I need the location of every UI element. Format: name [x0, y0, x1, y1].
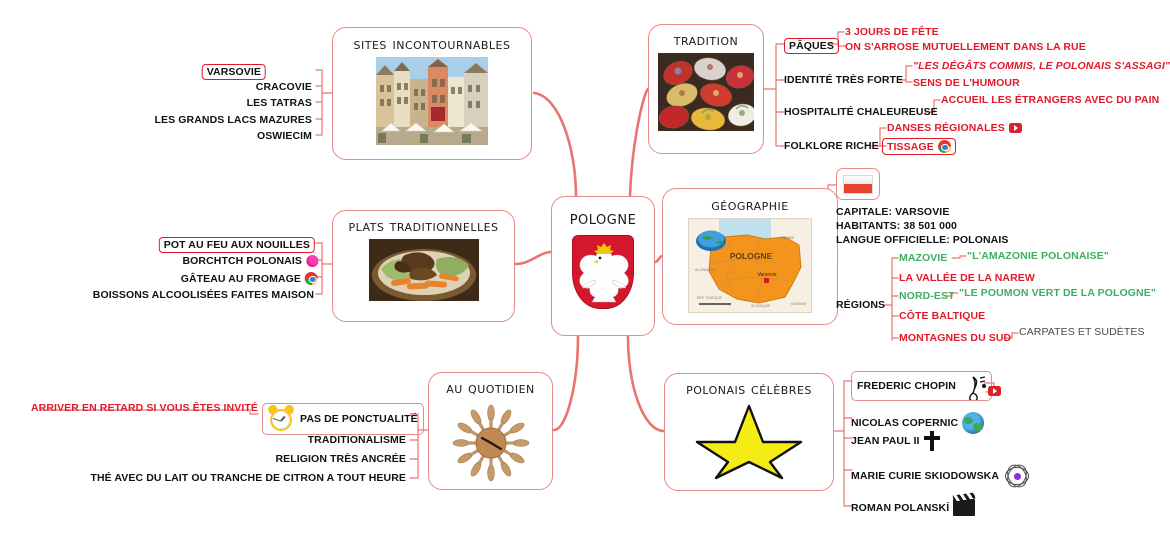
- branch-node-tradition[interactable]: TRADITION: [648, 24, 764, 154]
- chrome-icon: [305, 272, 318, 285]
- alarm-clock-icon: [268, 406, 294, 432]
- sites-item-3[interactable]: LES GRANDS LACS MAZURES: [155, 114, 312, 126]
- youtube-icon: [1009, 123, 1022, 133]
- quotidien-item-0: PAS DE PONCTUALITÉ: [300, 413, 418, 425]
- youtube-icon[interactable]: [988, 386, 1001, 396]
- tradition-item-2[interactable]: HOSPITALITÉ CHALEUREUSE: [784, 106, 938, 118]
- yellow-star-image: [695, 402, 803, 480]
- geo-region-4-sub[interactable]: CARPATES ET SUDÈTES: [1019, 326, 1145, 338]
- geo-fact-2: LANGUE OFFICIELLE: POLONAIS: [836, 234, 1008, 246]
- geo-region-1[interactable]: LA VALLÉE DE LA NAREW: [899, 272, 1035, 284]
- svg-text:UKRAINE: UKRAINE: [791, 302, 807, 306]
- celebres-item-0-box[interactable]: FREDERIC CHOPIN: [851, 371, 992, 401]
- easter-eggs-image: [658, 53, 754, 131]
- svg-text:LITUANIE: LITUANIE: [779, 236, 795, 240]
- tradition-item-1-sub-0[interactable]: "LES DÉGÂTS COMMIS, LE POLONAIS S'ASSAGI…: [913, 60, 1170, 72]
- branch-title-geographie: GÉOGRAPHIE: [711, 195, 788, 214]
- polish-dish-image: [369, 239, 479, 301]
- plats-item-1[interactable]: BORCHTCH POLONAIS: [182, 255, 302, 267]
- tradition-item-0[interactable]: PÂQUES: [784, 38, 839, 54]
- branch-title-quotidien: AU QUOTIDIEN: [446, 379, 535, 397]
- celebres-item-3[interactable]: MARIE CURIE SKIODOWSKA: [851, 470, 999, 482]
- celebres-item-2[interactable]: JEAN PAUL II: [851, 435, 920, 447]
- poland-flag-icon: [843, 175, 873, 194]
- geo-regions-label: RÉGIONS: [836, 299, 885, 311]
- geo-region-2-sub[interactable]: "LE POUMON VERT DE LA POLOGNE": [959, 287, 1156, 299]
- branch-title-celebres: POLONAIS CÉLÈBRES: [686, 380, 812, 398]
- plats-item-2[interactable]: GÂTEAU AU FROMAGE: [181, 273, 301, 285]
- chrome-icon: [938, 140, 951, 153]
- sites-item-2[interactable]: LES TATRAS: [247, 97, 312, 109]
- wooden-sunburst-clock-image: [448, 401, 534, 483]
- branch-node-geographie[interactable]: GÉOGRAPHIE POLOGNE Varsovie: [662, 188, 838, 325]
- central-node-pologne[interactable]: POLOGNE: [551, 196, 655, 336]
- geo-fact-1: HABITANTS: 38 501 000: [836, 220, 957, 232]
- tradition-item-1-sub-1[interactable]: SENS DE L'HUMOUR: [913, 77, 1020, 89]
- celebres-item-4[interactable]: ROMAN POLANSKÍ: [851, 502, 949, 514]
- tradition-item-3-sub-0[interactable]: DANSES RÉGIONALES: [887, 122, 1005, 134]
- cross-icon: [924, 431, 940, 451]
- quotidien-item-1[interactable]: TRADITIONALISME: [308, 434, 406, 446]
- tradition-item-0-sub-1[interactable]: ON S'ARROSE MUTUELLEMENT DANS LA RUE: [845, 41, 1086, 53]
- tradition-item-3[interactable]: FOLKLORE RICHE: [784, 140, 879, 152]
- branch-title-sites: SITES INCONTOURNABLES: [354, 34, 511, 53]
- tradition-item-2-sub-0[interactable]: ACCUEIL LES ÉTRANGERS AVEC DU PAIN: [941, 94, 1159, 106]
- geo-region-4[interactable]: MONTAGNES DU SUD: [899, 332, 1011, 344]
- celebres-item-0: FREDERIC CHOPIN: [857, 380, 956, 392]
- sites-item-0[interactable]: VARSOVIE: [202, 64, 266, 80]
- celebres-item-1[interactable]: NICOLAS COPERNIC: [851, 417, 958, 429]
- geo-fact-0: CAPITALE: VARSOVIE: [836, 206, 949, 218]
- geo-region-2[interactable]: NORD-EST: [899, 290, 955, 302]
- sites-item-1[interactable]: CRACOVIE: [256, 81, 312, 93]
- central-node-title: POLOGNE: [570, 207, 637, 229]
- branch-node-au-quotidien[interactable]: AU QUOTIDIEN: [428, 372, 553, 490]
- svg-text:ALLEMAGNE: ALLEMAGNE: [695, 268, 716, 272]
- plats-item-0[interactable]: POT AU FEU AUX NOUILLES: [159, 237, 315, 253]
- tradition-item-3-sub-1[interactable]: TISSAGE: [887, 141, 934, 153]
- branch-title-plats: PLATS TRADITIONNELLES: [348, 217, 498, 235]
- map-country-label: POLOGNE: [730, 251, 773, 261]
- poland-flag-box: [836, 168, 880, 200]
- branch-node-polonais-celebres[interactable]: POLONAIS CÉLÈBRES: [664, 373, 834, 491]
- warsaw-old-town-image: [376, 57, 488, 145]
- branch-node-plats-traditionnelles[interactable]: PLATS TRADITIONNELLES: [332, 210, 515, 322]
- quotidien-item-0-sub[interactable]: ARRIVER EN RETARD SI VOUS ÊTES INVITÉ: [31, 402, 258, 414]
- geo-region-0[interactable]: MAZOVIE: [899, 252, 948, 264]
- quotidien-item-0-box[interactable]: PAS DE PONCTUALITÉ: [262, 403, 424, 435]
- magenta-disc-icon: [306, 255, 318, 267]
- plats-item-3[interactable]: BOISSONS ALCOOLISÉES FAITES MAISON: [93, 289, 314, 301]
- poland-map-image: POLOGNE Varsovie ALLEMAGNE LITUANIE RÉP.…: [688, 218, 812, 313]
- sites-item-4[interactable]: OSWIECIM: [257, 130, 312, 142]
- atom-icon: [1003, 463, 1031, 489]
- mindmap-canvas: POLOGNE SITES INCONTOURNABLES: [0, 0, 1170, 540]
- svg-text:RÉP. TCHÈQUE: RÉP. TCHÈQUE: [697, 295, 723, 300]
- music-notes-icon: [964, 374, 986, 398]
- geo-region-3[interactable]: CÔTE BALTIQUE: [899, 310, 985, 322]
- geo-region-0-sub[interactable]: "L'AMAZONIE POLONAISE": [967, 250, 1109, 262]
- quotidien-item-2[interactable]: RELIGION TRÈS ANCRÉE: [275, 453, 406, 465]
- branch-node-sites-incontournables[interactable]: SITES INCONTOURNABLES: [332, 27, 532, 160]
- clapboard-icon: [953, 499, 975, 516]
- map-capital-label: Varsovie: [757, 272, 776, 278]
- globe-icon: [962, 412, 984, 434]
- svg-text:SLOVAQUIE: SLOVAQUIE: [751, 304, 771, 308]
- polish-coat-of-arms-icon: [572, 235, 634, 309]
- tradition-item-0-sub-0[interactable]: 3 JOURS DE FÊTE: [845, 26, 939, 38]
- quotidien-item-3[interactable]: THÉ AVEC DU LAIT OU TRANCHE DE CITRON A …: [90, 472, 406, 484]
- tradition-item-1[interactable]: IDENTITÉ TRÈS FORTE: [784, 74, 903, 86]
- branch-title-tradition: TRADITION: [674, 31, 739, 49]
